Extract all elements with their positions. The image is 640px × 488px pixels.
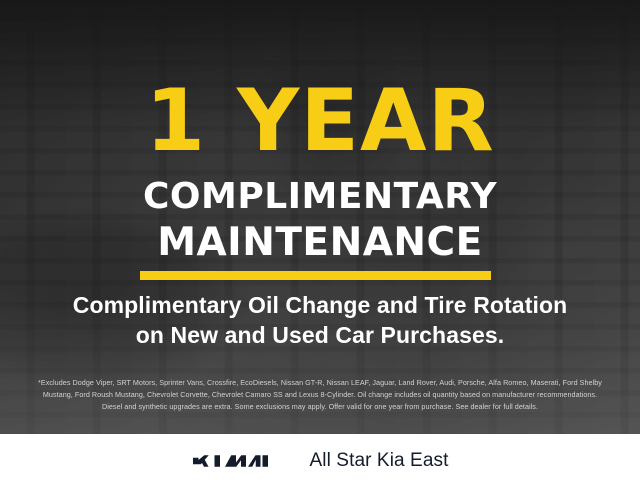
subheadline-line-2: on New and Used Car Purchases. — [0, 320, 640, 350]
dealer-name: All Star Kia East — [310, 450, 449, 472]
headline-complimentary: COMPLIMENTARY — [0, 178, 640, 216]
hero-banner: 1 YEAR COMPLIMENTARY MAINTENANCE Complim… — [0, 0, 640, 434]
yellow-divider-rule — [140, 271, 491, 280]
disclaimer-text: *Excludes Dodge Viper, SRT Motors, Sprin… — [14, 377, 626, 413]
banner-content: 1 YEAR COMPLIMENTARY MAINTENANCE Complim… — [0, 0, 640, 434]
kia-logo-icon — [192, 449, 284, 473]
headline-primary: 1 YEAR — [0, 78, 640, 164]
disclaimer-line-3: Diesel and synthetic upgrades are extra.… — [14, 401, 626, 413]
disclaimer-line-1: *Excludes Dodge Viper, SRT Motors, Sprin… — [14, 377, 626, 389]
disclaimer-line-2: Mustang, Ford Roush Mustang, Chevrolet C… — [14, 389, 626, 401]
subheadline-line-1: Complimentary Oil Change and Tire Rotati… — [0, 290, 640, 320]
subheadline: Complimentary Oil Change and Tire Rotati… — [0, 290, 640, 350]
headline-maintenance: MAINTENANCE — [0, 222, 640, 263]
promo-banner-page: 1 YEAR COMPLIMENTARY MAINTENANCE Complim… — [0, 0, 640, 488]
footer-bar: All Star Kia East — [0, 434, 640, 488]
